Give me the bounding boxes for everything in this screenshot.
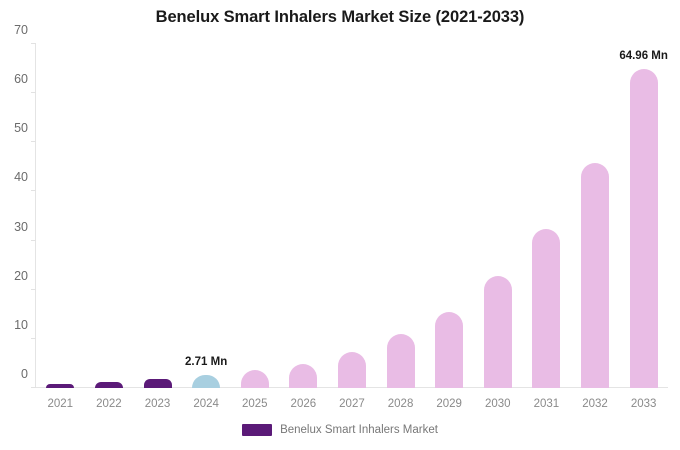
bar-slot: 2029 [425, 44, 474, 388]
bar-slot: 2026 [279, 44, 328, 388]
x-axis-tick-label: 2026 [291, 398, 317, 410]
bar-slot: 2023 [133, 44, 182, 388]
x-axis-tick-label: 2029 [436, 398, 462, 410]
bar[interactable] [581, 163, 609, 388]
bar-slot: 2032 [571, 44, 620, 388]
bar[interactable] [435, 312, 463, 388]
x-axis-tick-label: 2025 [242, 398, 268, 410]
bar[interactable] [192, 375, 220, 388]
x-axis-tick-label: 2023 [145, 398, 171, 410]
bar[interactable] [387, 334, 415, 388]
legend-label[interactable]: Benelux Smart Inhalers Market [280, 424, 438, 436]
x-axis-tick-label: 2022 [96, 398, 122, 410]
bar[interactable] [630, 69, 658, 388]
bar-slot: 2027 [328, 44, 377, 388]
y-axis-tick-label: 20 [14, 269, 28, 283]
bar-slot: 2031 [522, 44, 571, 388]
bar-slot: 2025 [230, 44, 279, 388]
bar[interactable] [46, 384, 74, 388]
x-axis-tick-label: 2032 [582, 398, 608, 410]
y-axis-tick-label: 60 [14, 72, 28, 86]
bar-value-label: 64.96 Mn [619, 50, 668, 62]
x-axis-tick-label: 2027 [339, 398, 365, 410]
bar-slot: 64.96 Mn2033 [619, 44, 668, 388]
y-axis-tick-label: 0 [21, 367, 28, 381]
bar-slot: 2.71 Mn2024 [182, 44, 231, 388]
bar[interactable] [289, 364, 317, 388]
x-axis-tick-label: 2024 [193, 398, 219, 410]
bar-slot: 2022 [85, 44, 134, 388]
plot-area: 010203040506070 2021202220232.71 Mn20242… [36, 44, 668, 388]
y-axis-tick-label: 40 [14, 170, 28, 184]
bar[interactable] [338, 352, 366, 388]
bar-slot: 2030 [473, 44, 522, 388]
bar[interactable] [144, 379, 172, 388]
x-axis-tick-label: 2031 [534, 398, 560, 410]
x-axis-tick-label: 2021 [48, 398, 74, 410]
bar-value-label: 2.71 Mn [185, 356, 227, 368]
chart-title: Benelux Smart Inhalers Market Size (2021… [0, 8, 680, 27]
x-axis-tick-label: 2030 [485, 398, 511, 410]
y-axis-tick-label: 70 [14, 23, 28, 37]
x-axis-tick-label: 2033 [631, 398, 657, 410]
bar[interactable] [532, 229, 560, 388]
bars-layer: 2021202220232.71 Mn202420252026202720282… [36, 44, 668, 388]
bar[interactable] [95, 382, 123, 388]
chart-container: Benelux Smart Inhalers Market Size (2021… [0, 0, 680, 450]
bar-slot: 2021 [36, 44, 85, 388]
y-axis-tick-label: 10 [14, 318, 28, 332]
y-axis-tick-label: 50 [14, 121, 28, 135]
bar[interactable] [241, 370, 269, 388]
legend-color-swatch[interactable] [242, 424, 272, 436]
bar-slot: 2028 [376, 44, 425, 388]
chart-legend: Benelux Smart Inhalers Market [0, 424, 680, 436]
y-axis-tick-label: 30 [14, 220, 28, 234]
x-axis-tick-label: 2028 [388, 398, 414, 410]
bar[interactable] [484, 276, 512, 388]
